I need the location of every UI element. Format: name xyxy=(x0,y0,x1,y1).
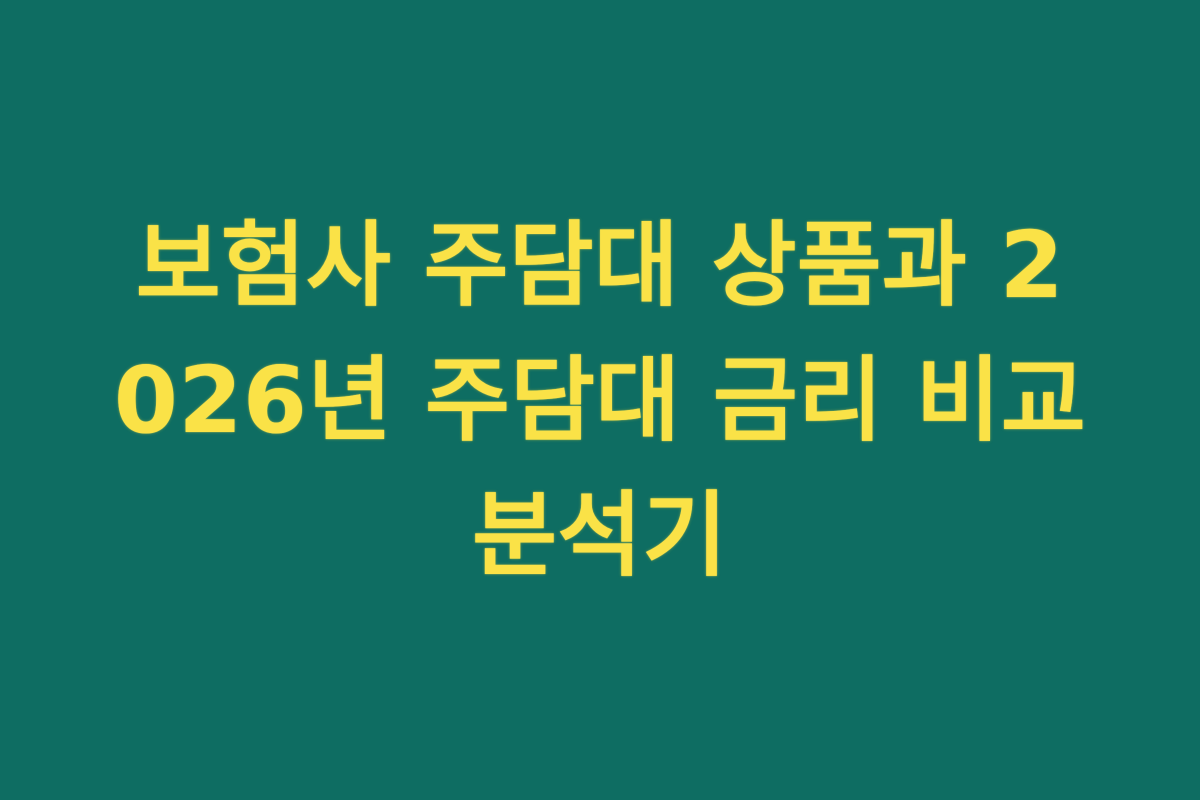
page-title: 보험사 주담대 상품과 2 026년 주담대 금리 비교 분석기 xyxy=(0,198,1200,603)
headline-line-2: 026년 주담대 금리 비교 xyxy=(60,333,1140,468)
thumbnail-card: 보험사 주담대 상품과 2 026년 주담대 금리 비교 분석기 xyxy=(0,0,1200,800)
headline-line-1: 보험사 주담대 상품과 2 xyxy=(60,198,1140,333)
headline-line-3: 분석기 xyxy=(60,468,1140,603)
